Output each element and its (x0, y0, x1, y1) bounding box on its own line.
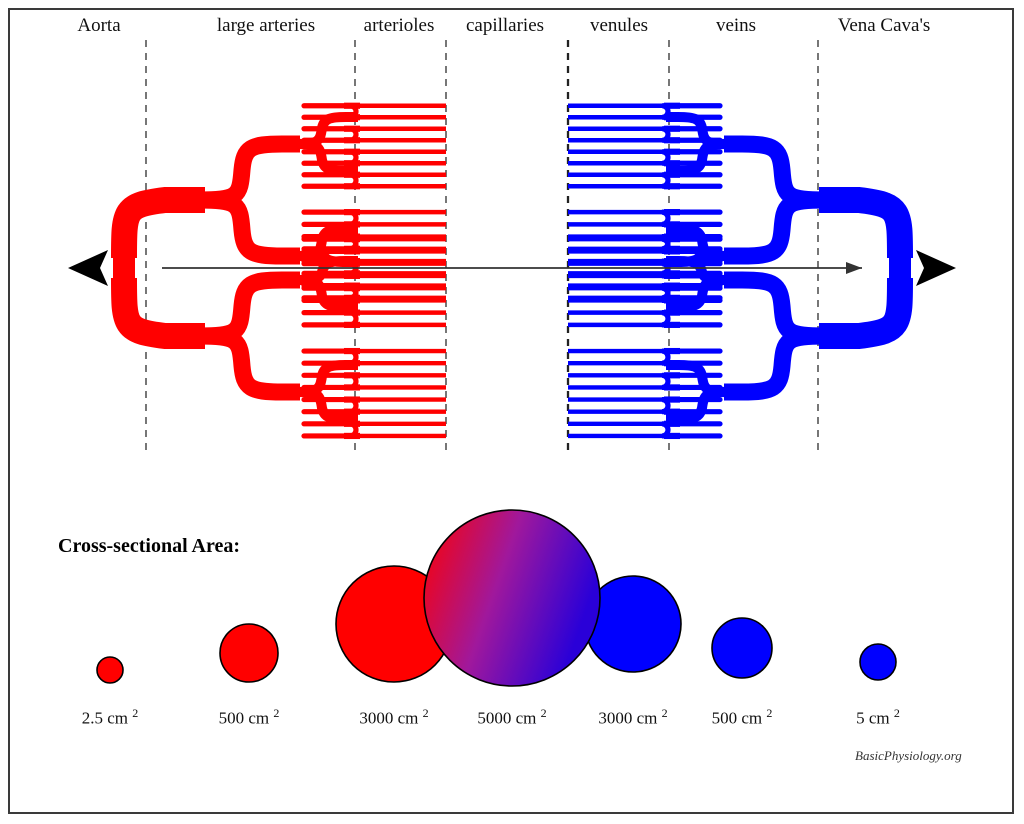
bubble-label-exponent-1: 2 (273, 706, 279, 720)
bubble-label-0: 2.5 cm 2 (82, 706, 139, 729)
bubble-label-5: 500 cm 2 (712, 706, 773, 729)
arteriole-loop-3 (304, 175, 356, 187)
bubble-5000-cm2 (424, 510, 600, 686)
bubble-label-4: 3000 cm 2 (598, 706, 667, 729)
vein-l3-2 (666, 144, 728, 171)
artery-l1-up (124, 200, 205, 258)
arteriole-loop-12 (304, 351, 356, 363)
credit-attribution: BasicPhysiology.org (855, 748, 962, 764)
artery-l3-8 (296, 392, 358, 419)
flow-outlet-arrow (916, 250, 956, 286)
artery-l2-b (200, 200, 300, 256)
artery-l2-c (200, 280, 300, 336)
bubble-label-text-5: 500 cm (712, 709, 767, 728)
bubble-label-text-6: 5 cm (856, 709, 894, 728)
bubble-500-cm2 (220, 624, 278, 682)
bubble-label-2: 3000 cm 2 (359, 706, 428, 729)
venule-loop-10 (662, 288, 720, 300)
arteriole-loop-15 (304, 424, 356, 436)
vein-l1-up (819, 200, 900, 258)
bubble-label-text-3: 5000 cm (477, 709, 540, 728)
arteriole-loop-13 (304, 375, 356, 387)
arteriole-loop-0 (304, 106, 356, 118)
flow-axis-arrowhead (846, 262, 862, 274)
bubble-label-text-1: 500 cm (219, 709, 274, 728)
artery-l3-2 (296, 144, 358, 171)
arteriole-loop-9 (304, 264, 356, 276)
bubble-label-text-2: 3000 cm (359, 709, 422, 728)
bubble-5-cm2 (860, 644, 896, 680)
vein-l3-8 (666, 392, 728, 419)
artery-l2-d (200, 336, 300, 392)
arteriole-loop-11 (304, 313, 356, 325)
vein-l2-c (724, 280, 824, 336)
bubble-label-exponent-2: 2 (423, 706, 429, 720)
venule-loop-3 (662, 175, 720, 187)
arteriole-loop-1 (304, 129, 356, 141)
venule-loop-4 (662, 212, 720, 224)
bubble-label-1: 500 cm 2 (219, 706, 280, 729)
arteriole-loop-4 (304, 212, 356, 224)
bubble-label-text-4: 3000 cm (598, 709, 661, 728)
artery-l2-a (200, 144, 300, 200)
bubble-2.5-cm2 (97, 657, 123, 683)
venule-loop-14 (662, 400, 720, 412)
bubble-label-exponent-5: 2 (766, 706, 772, 720)
figure-root: Aorta large arteries arterioles capillar… (0, 0, 1024, 824)
arteriole-loop-2 (304, 152, 356, 164)
bubble-label-3: 5000 cm 2 (477, 706, 546, 729)
arteriole-loop-14 (304, 400, 356, 412)
bubble-label-exponent-0: 2 (132, 706, 138, 720)
bubble-500-cm2 (712, 618, 772, 678)
artery-l1-dn (124, 278, 205, 336)
vein-l2-d (724, 336, 824, 392)
venule-loop-11 (662, 313, 720, 325)
arteriole-loop-10 (304, 288, 356, 300)
vein-l1-dn (819, 278, 900, 336)
bubble-label-exponent-3: 2 (541, 706, 547, 720)
bubble-label-exponent-4: 2 (662, 706, 668, 720)
cross-sectional-area-title: Cross-sectional Area: (58, 535, 240, 558)
flow-axis (68, 250, 956, 286)
vein-l2-a (724, 144, 824, 200)
bubble-label-6: 5 cm 2 (856, 706, 900, 729)
venule-loop-8 (662, 239, 720, 251)
bubble-label-text-0: 2.5 cm (82, 709, 133, 728)
flow-inlet-arrow (68, 250, 108, 286)
venule-loop-2 (662, 152, 720, 164)
vein-l2-b (724, 200, 824, 256)
capillary-bed (446, 106, 568, 436)
venule-loop-15 (662, 424, 720, 436)
arteriole-loop-8 (304, 239, 356, 251)
bubble-label-exponent-6: 2 (894, 706, 900, 720)
vascular-diagram-svg (0, 0, 1024, 824)
